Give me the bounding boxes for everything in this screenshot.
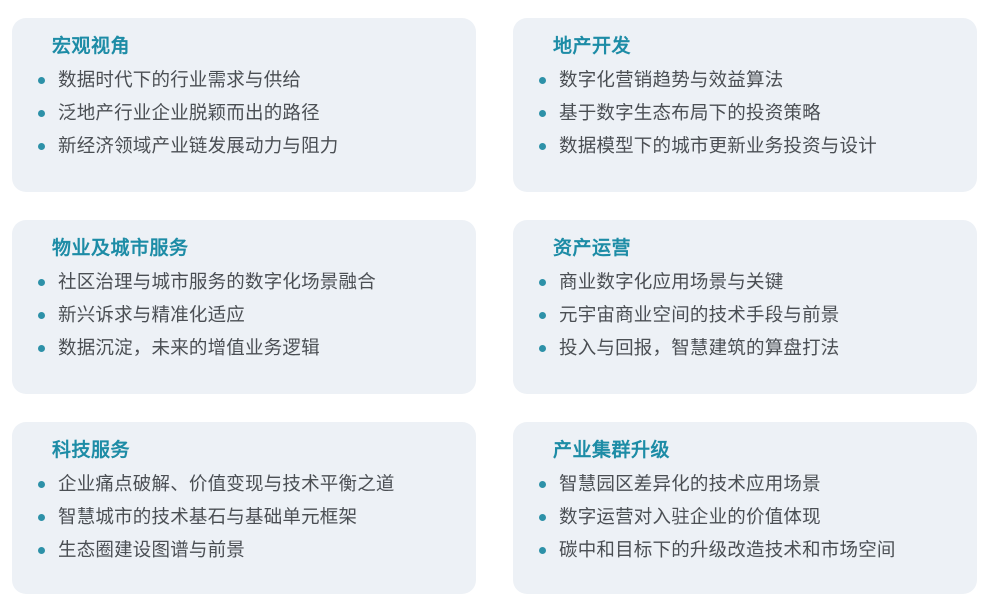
list-item-label: 数据模型下的城市更新业务投资与设计 xyxy=(559,136,877,157)
list-item: 新兴诉求与精准化适应 xyxy=(38,299,454,332)
topic-card-property-and-city-services[interactable]: 物业及城市服务 社区治理与城市服务的数字化场景融合 新兴诉求与精准化适应 数据沉… xyxy=(12,220,476,394)
list-item: 智慧园区差异化的技术应用场景 xyxy=(539,468,955,501)
card-title: 产业集群升级 xyxy=(553,439,955,462)
list-item-label: 碳中和目标下的升级改造技术和市场空间 xyxy=(559,540,896,561)
card-title: 科技服务 xyxy=(52,439,454,462)
bullet-dot-icon xyxy=(38,77,45,84)
card-topic-list: 社区治理与城市服务的数字化场景融合 新兴诉求与精准化适应 数据沉淀，未来的增值业… xyxy=(38,266,454,365)
bullet-dot-icon xyxy=(38,547,45,554)
topic-card-real-estate-development[interactable]: 地产开发 数字化营销趋势与效益算法 基于数字生态布局下的投资策略 数据模型下的城… xyxy=(513,18,977,192)
bullet-dot-icon xyxy=(539,143,546,150)
card-topic-list: 企业痛点破解、价值变现与技术平衡之道 智慧城市的技术基石与基础单元框架 生态圈建… xyxy=(38,468,454,567)
bullet-dot-icon xyxy=(38,110,45,117)
card-title: 资产运营 xyxy=(553,237,955,260)
topic-card-technology-services[interactable]: 科技服务 企业痛点破解、价值变现与技术平衡之道 智慧城市的技术基石与基础单元框架… xyxy=(12,422,476,594)
bullet-dot-icon xyxy=(539,312,546,319)
bullet-dot-icon xyxy=(539,481,546,488)
bullet-dot-icon xyxy=(539,547,546,554)
topic-card-macro-perspective[interactable]: 宏观视角 数据时代下的行业需求与供给 泛地产行业企业脱颖而出的路径 新经济领域产… xyxy=(12,18,476,192)
list-item-label: 数字运营对入驻企业的价值体现 xyxy=(559,507,821,528)
bullet-dot-icon xyxy=(539,345,546,352)
list-item-label: 新兴诉求与精准化适应 xyxy=(58,305,245,326)
list-item: 生态圈建设图谱与前景 xyxy=(38,534,454,567)
bullet-dot-icon xyxy=(539,514,546,521)
list-item: 数据模型下的城市更新业务投资与设计 xyxy=(539,130,955,163)
bullet-dot-icon xyxy=(539,77,546,84)
list-item-label: 泛地产行业企业脱颖而出的路径 xyxy=(58,103,320,124)
list-item-label: 商业数字化应用场景与关键 xyxy=(559,272,783,293)
list-item: 商业数字化应用场景与关键 xyxy=(539,266,955,299)
list-item-label: 智慧城市的技术基石与基础单元框架 xyxy=(58,507,357,528)
card-topic-list: 商业数字化应用场景与关键 元宇宙商业空间的技术手段与前景 投入与回报，智慧建筑的… xyxy=(539,266,955,365)
topic-card-industrial-cluster-upgrade[interactable]: 产业集群升级 智慧园区差异化的技术应用场景 数字运营对入驻企业的价值体现 碳中和… xyxy=(513,422,977,594)
list-item-label: 数据沉淀，未来的增值业务逻辑 xyxy=(58,338,320,359)
list-item-label: 投入与回报，智慧建筑的算盘打法 xyxy=(559,338,840,359)
list-item: 智慧城市的技术基石与基础单元框架 xyxy=(38,501,454,534)
bullet-dot-icon xyxy=(38,345,45,352)
list-item-label: 生态圈建设图谱与前景 xyxy=(58,540,245,561)
list-item: 数据沉淀，未来的增值业务逻辑 xyxy=(38,332,454,365)
list-item: 社区治理与城市服务的数字化场景融合 xyxy=(38,266,454,299)
bullet-dot-icon xyxy=(38,514,45,521)
list-item: 泛地产行业企业脱颖而出的路径 xyxy=(38,97,454,130)
bullet-dot-icon xyxy=(38,481,45,488)
card-topic-list: 数字化营销趋势与效益算法 基于数字生态布局下的投资策略 数据模型下的城市更新业务… xyxy=(539,64,955,163)
list-item: 投入与回报，智慧建筑的算盘打法 xyxy=(539,332,955,365)
bullet-dot-icon xyxy=(38,312,45,319)
list-item-label: 数据时代下的行业需求与供给 xyxy=(58,70,301,91)
list-item-label: 社区治理与城市服务的数字化场景融合 xyxy=(58,272,376,293)
list-item-label: 企业痛点破解、价值变现与技术平衡之道 xyxy=(58,474,395,495)
list-item: 新经济领域产业链发展动力与阻力 xyxy=(38,130,454,163)
list-item: 碳中和目标下的升级改造技术和市场空间 xyxy=(539,534,955,567)
card-topic-list: 数据时代下的行业需求与供给 泛地产行业企业脱颖而出的路径 新经济领域产业链发展动… xyxy=(38,64,454,163)
list-item: 企业痛点破解、价值变现与技术平衡之道 xyxy=(38,468,454,501)
card-title: 物业及城市服务 xyxy=(52,237,454,260)
topic-card-board: 宏观视角 数据时代下的行业需求与供给 泛地产行业企业脱颖而出的路径 新经济领域产… xyxy=(0,0,990,608)
list-item: 元宇宙商业空间的技术手段与前景 xyxy=(539,299,955,332)
bullet-dot-icon xyxy=(539,279,546,286)
list-item-label: 数字化营销趋势与效益算法 xyxy=(559,70,783,91)
list-item: 数字化营销趋势与效益算法 xyxy=(539,64,955,97)
list-item: 基于数字生态布局下的投资策略 xyxy=(539,97,955,130)
bullet-dot-icon xyxy=(539,110,546,117)
card-title: 地产开发 xyxy=(553,35,955,58)
card-title: 宏观视角 xyxy=(52,35,454,58)
list-item-label: 元宇宙商业空间的技术手段与前景 xyxy=(559,305,840,326)
bullet-dot-icon xyxy=(38,143,45,150)
card-topic-list: 智慧园区差异化的技术应用场景 数字运营对入驻企业的价值体现 碳中和目标下的升级改… xyxy=(539,468,955,567)
list-item-label: 新经济领域产业链发展动力与阻力 xyxy=(58,136,339,157)
bullet-dot-icon xyxy=(38,279,45,286)
topic-card-asset-operation[interactable]: 资产运营 商业数字化应用场景与关键 元宇宙商业空间的技术手段与前景 投入与回报，… xyxy=(513,220,977,394)
list-item: 数字运营对入驻企业的价值体现 xyxy=(539,501,955,534)
list-item-label: 基于数字生态布局下的投资策略 xyxy=(559,103,821,124)
list-item: 数据时代下的行业需求与供给 xyxy=(38,64,454,97)
list-item-label: 智慧园区差异化的技术应用场景 xyxy=(559,474,821,495)
